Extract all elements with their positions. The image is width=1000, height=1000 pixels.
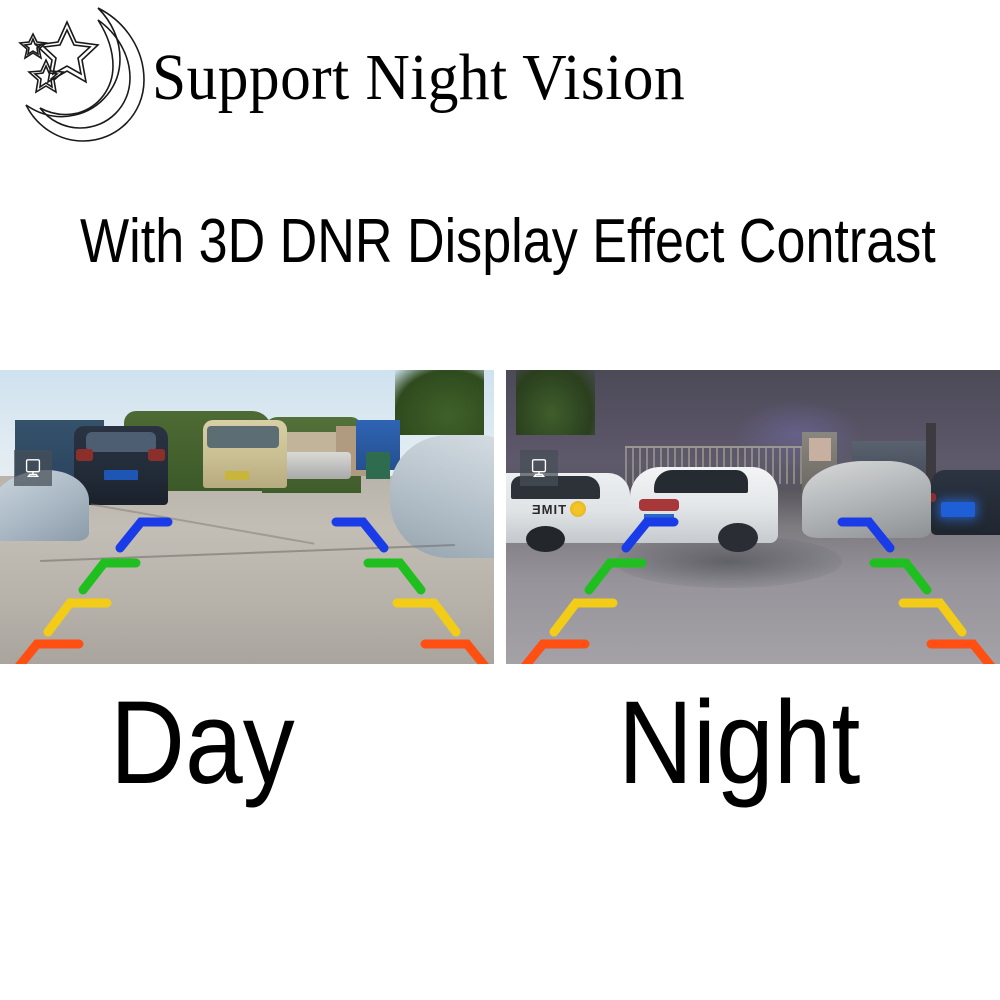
page-subtitle: With 3D DNR Display Effect Contrast bbox=[80, 206, 920, 278]
night-sedan-plate bbox=[644, 514, 674, 524]
day-scene bbox=[0, 370, 494, 664]
day-covered-car-right bbox=[390, 435, 494, 558]
night-sedan-rear-window bbox=[654, 470, 748, 494]
night-sedan-wheel bbox=[718, 523, 758, 552]
header-banner: Support Night Vision bbox=[0, 0, 1000, 160]
day-suv-plate bbox=[104, 470, 139, 480]
night-vehicle-logo bbox=[570, 501, 586, 517]
day-suv-taillight-right bbox=[148, 449, 165, 461]
night-sedan-taillight bbox=[639, 499, 679, 511]
night-camera-preview: TIME bbox=[506, 370, 1000, 664]
night-wall-sign bbox=[809, 438, 831, 462]
crescent-moon-stars-icon bbox=[6, 4, 148, 146]
night-palm-tree bbox=[516, 370, 595, 435]
night-covered-car bbox=[802, 461, 930, 537]
night-label: Night bbox=[618, 678, 860, 808]
day-suv-taillight-left bbox=[76, 449, 93, 461]
day-tree bbox=[395, 370, 484, 435]
page-title: Support Night Vision bbox=[152, 38, 685, 118]
day-suv-rear-window bbox=[86, 432, 155, 453]
day-label: Day bbox=[110, 678, 295, 808]
night-vehicle-decal-text: TIME bbox=[531, 502, 566, 517]
day-minibus-windshield bbox=[207, 426, 279, 448]
rear-view-camera-icon bbox=[14, 450, 52, 486]
day-minibus-plate bbox=[225, 471, 250, 480]
day-green-bin bbox=[366, 452, 391, 478]
rear-view-camera-icon bbox=[520, 450, 558, 486]
night-dark-car-plate bbox=[941, 502, 976, 517]
comparison-panels: TIME bbox=[0, 370, 1000, 664]
night-scene: TIME bbox=[506, 370, 1000, 664]
day-parked-cars-row bbox=[282, 452, 351, 478]
day-camera-preview bbox=[0, 370, 494, 664]
